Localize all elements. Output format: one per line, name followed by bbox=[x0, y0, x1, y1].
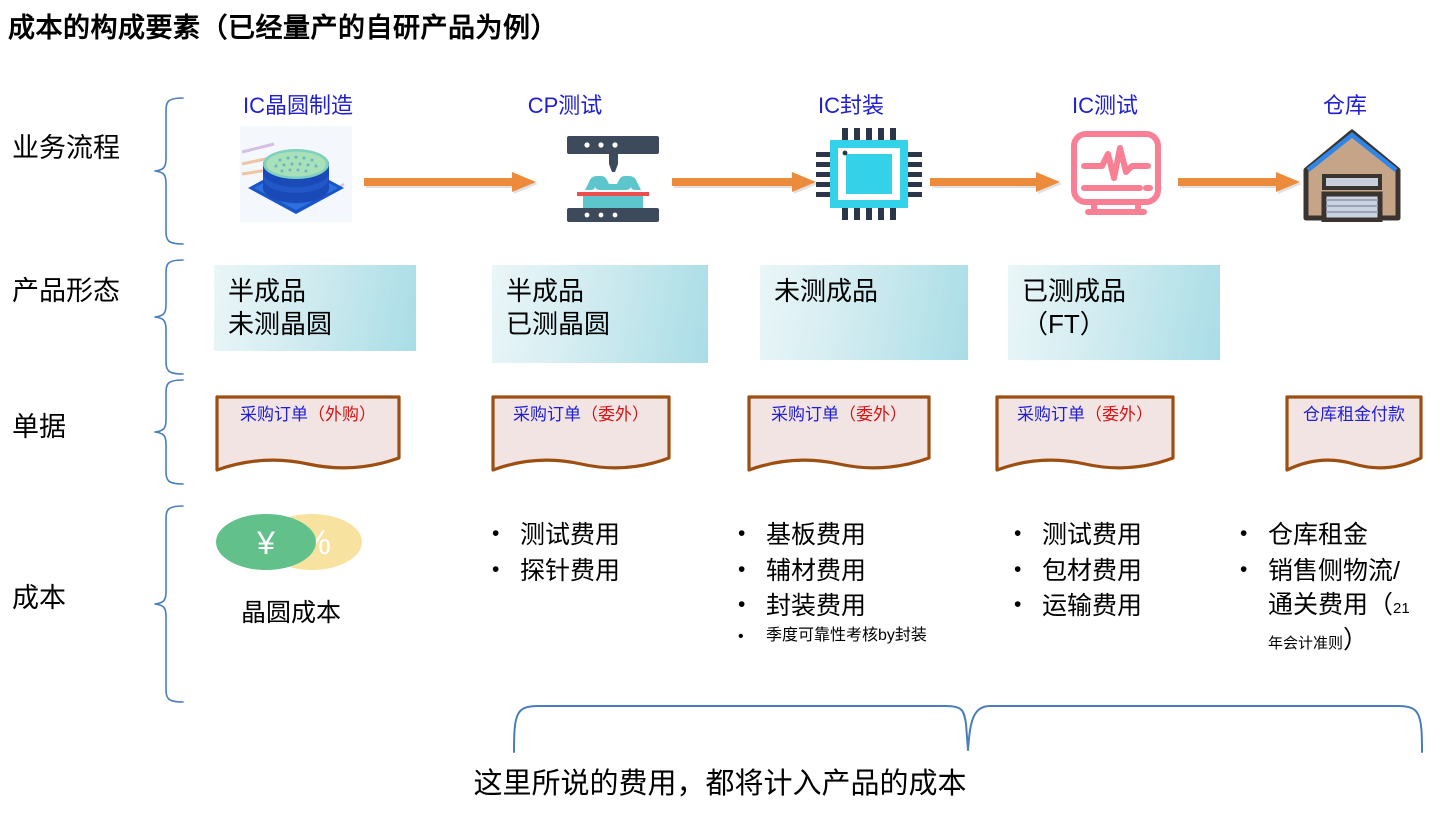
document-label-0: 采购订单（外购） bbox=[214, 404, 402, 425]
bullet-icon: • bbox=[738, 518, 766, 551]
bullet-icon: • bbox=[738, 589, 766, 622]
document-paren-text: （委外） bbox=[839, 405, 907, 424]
document-shape-0: 采购订单（外购） bbox=[214, 394, 402, 480]
chip-package-icon bbox=[812, 126, 924, 222]
document-paren-text: （委外） bbox=[1085, 405, 1153, 424]
page-title: 成本的构成要素（已经量产的自研产品为例） bbox=[8, 6, 558, 45]
document-label-4: 仓库租金付款 bbox=[1284, 404, 1424, 425]
list-item: • 辅材费用 bbox=[738, 554, 984, 589]
document-main-text: 采购订单 bbox=[771, 405, 839, 424]
cost-item-label: 测试费用 bbox=[520, 518, 712, 553]
warehouse-icon bbox=[1302, 126, 1402, 222]
cost-item-main: 销售侧物流/通关费用（ bbox=[1268, 557, 1400, 620]
bullet-icon: • bbox=[1014, 554, 1042, 587]
cost-item-label: 包材费用 bbox=[1042, 554, 1234, 589]
product-form-line2: 已测晶圆 bbox=[506, 308, 708, 341]
bullet-icon: • bbox=[1240, 518, 1268, 551]
list-item: • 基板费用 bbox=[738, 518, 984, 553]
list-item: • 仓库租金 bbox=[1240, 518, 1422, 553]
cost-item-label: 基板费用 bbox=[766, 518, 984, 553]
document-main-text: 仓库租金 bbox=[1303, 405, 1371, 424]
product-form-line1: 未测成品 bbox=[774, 275, 968, 308]
probe-tester-icon bbox=[557, 126, 669, 222]
cost-item-label: 封装费用 bbox=[766, 589, 984, 624]
list-item: • 季度可靠性考核by封装 bbox=[738, 625, 984, 649]
document-paren-text: （外购） bbox=[308, 405, 376, 424]
yen-percent-coins-icon: % ¥ bbox=[212, 512, 370, 572]
document-main-text: 采购订单 bbox=[1017, 405, 1085, 424]
wafer-stack-icon bbox=[240, 126, 352, 222]
cost-list-col2: • 测试费用 • 探针费用 bbox=[492, 518, 712, 589]
product-form-line1: 半成品 bbox=[228, 275, 416, 308]
cost-list-col3: • 基板费用 • 辅材费用 • 封装费用 • 季度可靠性考核by封装 bbox=[738, 518, 984, 650]
product-form-line1: 已测成品 bbox=[1022, 275, 1220, 308]
row-label-cost: 成本 bbox=[12, 583, 130, 614]
bullet-icon: • bbox=[492, 554, 520, 587]
product-form-line2: （FT） bbox=[1022, 308, 1220, 341]
right-arrow-icon-2 bbox=[672, 170, 822, 196]
process-step-label-4: 仓库 bbox=[1310, 88, 1380, 120]
bullet-icon: • bbox=[1240, 554, 1268, 587]
wafer-cost-block: % ¥ 晶圆成本 bbox=[212, 512, 370, 629]
list-item: • 销售侧物流/通关费用（21年会计准则） bbox=[1240, 554, 1422, 658]
cost-item-label: 仓库租金 bbox=[1268, 518, 1422, 553]
process-step-label-3: IC测试 bbox=[1062, 88, 1148, 120]
product-form-line2: 未测晶圆 bbox=[228, 308, 416, 341]
document-main-text: 采购订单 bbox=[240, 405, 308, 424]
list-item: • 测试费用 bbox=[1014, 518, 1234, 553]
row-label-process: 业务流程 bbox=[12, 133, 130, 164]
document-paren-text: （委外） bbox=[581, 405, 649, 424]
brace-document bbox=[133, 378, 189, 486]
list-item: • 包材费用 bbox=[1014, 554, 1234, 589]
document-shape-3: 采购订单（委外） bbox=[994, 394, 1176, 480]
cost-item-tail: ） bbox=[1343, 626, 1368, 654]
document-shape-1: 采购订单（委外） bbox=[490, 394, 672, 480]
cost-list-col5: • 仓库租金 • 销售侧物流/通关费用（21年会计准则） bbox=[1240, 518, 1422, 658]
row-label-document: 单据 bbox=[12, 412, 130, 443]
slide-canvas: 成本的构成要素（已经量产的自研产品为例） 业务流程 产品形态 单据 成本 IC晶… bbox=[0, 0, 1440, 814]
cost-list-col4: • 测试费用 • 包材费用 • 运输费用 bbox=[1014, 518, 1234, 625]
brace-cost bbox=[133, 504, 189, 704]
bullet-icon: • bbox=[738, 625, 766, 649]
process-step-label-1: CP测试 bbox=[515, 88, 615, 120]
right-arrow-icon-1 bbox=[364, 170, 542, 196]
document-label-2: 采购订单（委外） bbox=[746, 404, 932, 425]
list-item: • 封装费用 bbox=[738, 589, 984, 624]
brace-product-form bbox=[133, 258, 189, 376]
bullet-icon: • bbox=[738, 554, 766, 587]
list-item: • 探针费用 bbox=[492, 554, 712, 589]
row-label-product-form: 产品形态 bbox=[12, 276, 130, 307]
document-shape-4: 仓库租金付款 bbox=[1284, 394, 1424, 480]
cost-item-label: 辅材费用 bbox=[766, 554, 984, 589]
monitor-ecg-icon bbox=[1060, 126, 1172, 222]
wafer-cost-caption: 晶圆成本 bbox=[216, 593, 366, 629]
product-form-box-3: 已测成品 （FT） bbox=[1008, 265, 1220, 360]
bottom-brace bbox=[512, 694, 1424, 756]
document-label-3: 采购订单（委外） bbox=[994, 404, 1176, 425]
bullet-icon: • bbox=[1014, 589, 1042, 622]
document-label-1: 采购订单（委外） bbox=[490, 404, 672, 425]
product-form-box-2: 未测成品 bbox=[760, 265, 968, 360]
process-step-label-0: IC晶圆制造 bbox=[198, 88, 398, 120]
cost-item-label: 测试费用 bbox=[1042, 518, 1234, 553]
document-paren-text: 付款 bbox=[1371, 405, 1405, 424]
bullet-icon: • bbox=[492, 518, 520, 551]
process-step-label-2: IC封装 bbox=[808, 88, 894, 120]
product-form-box-1: 半成品 已测晶圆 bbox=[492, 265, 708, 363]
right-arrow-icon-3 bbox=[930, 170, 1066, 196]
product-form-line1: 半成品 bbox=[506, 275, 708, 308]
document-main-text: 采购订单 bbox=[513, 405, 581, 424]
list-item: • 测试费用 bbox=[492, 518, 712, 553]
cost-item-label: 探针费用 bbox=[520, 554, 712, 589]
document-shape-2: 采购订单（委外） bbox=[746, 394, 932, 480]
product-form-box-0: 半成品 未测晶圆 bbox=[214, 265, 416, 351]
cost-item-label: 销售侧物流/通关费用（21年会计准则） bbox=[1268, 554, 1422, 658]
footer-caption: 这里所说的费用，都将计入产品的成本 bbox=[0, 760, 1440, 802]
bullet-icon: • bbox=[1014, 518, 1042, 551]
yen-symbol: ¥ bbox=[256, 525, 275, 561]
list-item: • 运输费用 bbox=[1014, 589, 1234, 624]
right-arrow-icon-4 bbox=[1178, 170, 1306, 196]
cost-item-label: 运输费用 bbox=[1042, 589, 1234, 624]
cost-item-label: 季度可靠性考核by封装 bbox=[766, 625, 984, 647]
brace-process bbox=[133, 96, 189, 246]
